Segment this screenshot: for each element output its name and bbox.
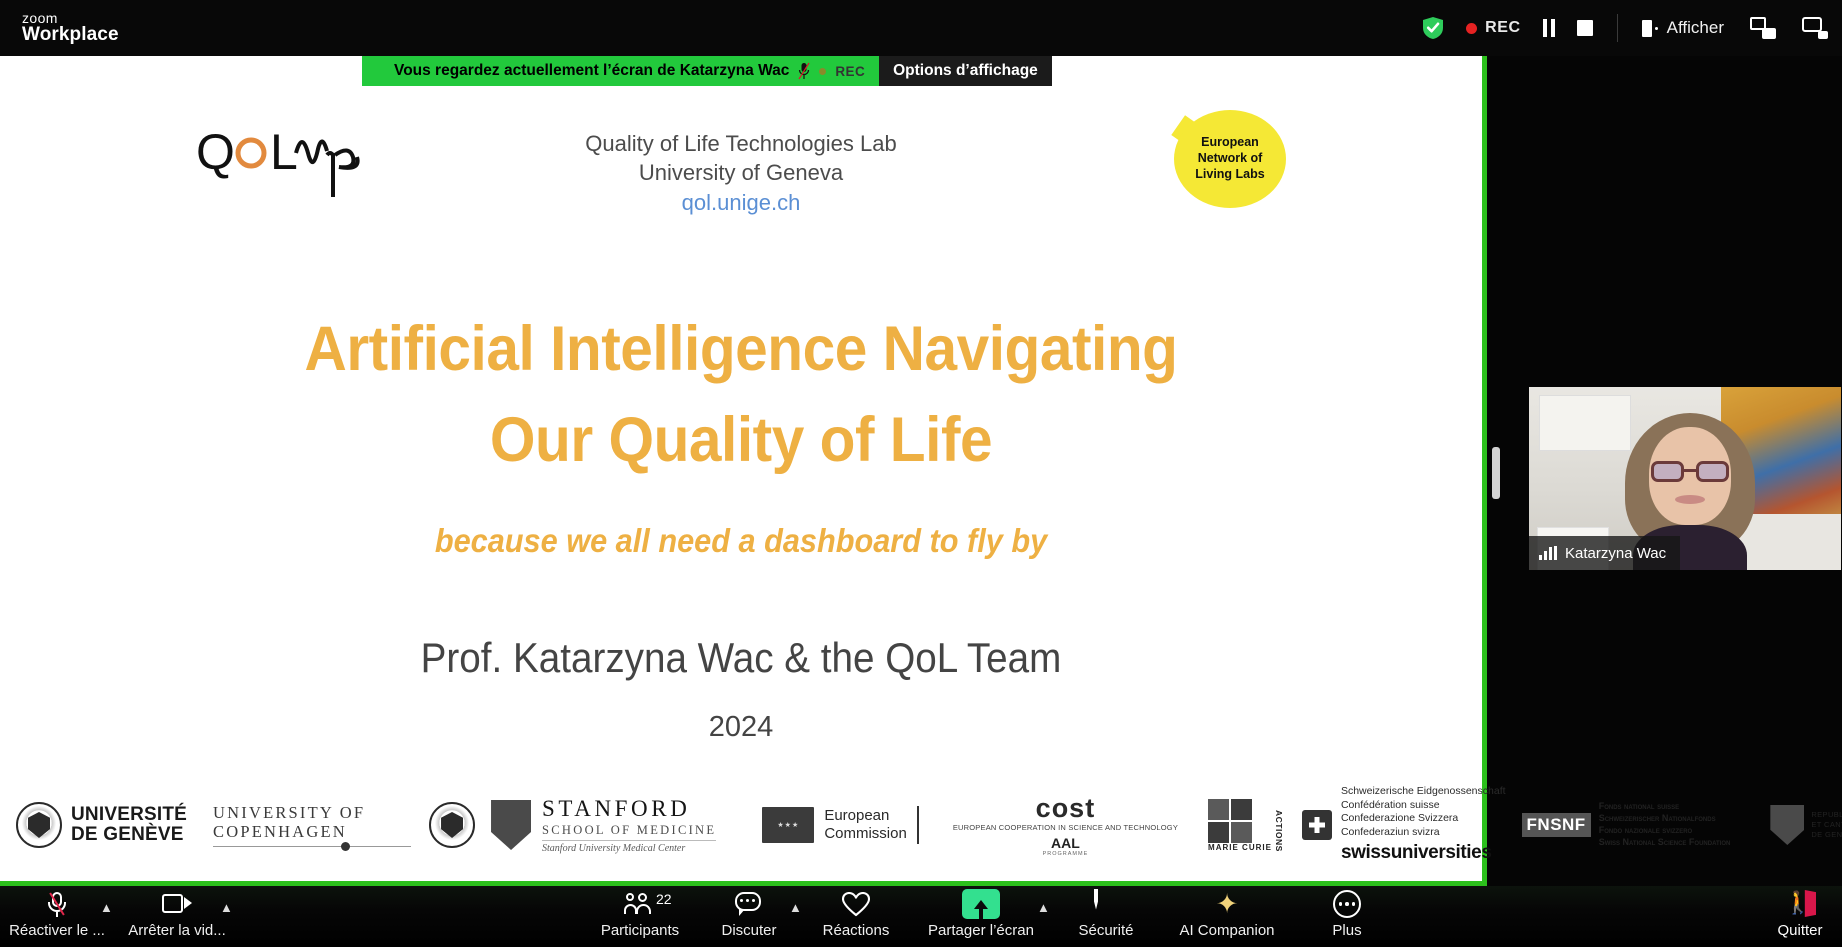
presentation-slide: Q L Quality of Life Technologies Lab Uni… (0, 56, 1482, 881)
security-button[interactable]: Sécurité (1046, 889, 1166, 939)
unige-line1: UNIVERSITÉ (71, 805, 187, 825)
ku-seal-icon (429, 802, 475, 848)
stop-video-button[interactable]: Arrêter la vid... (117, 889, 237, 939)
shared-screen-region: Vous regardez actuellement l’écran de Ka… (0, 56, 1487, 886)
ec-line1: European (824, 807, 907, 825)
record-dot-icon (1466, 23, 1477, 34)
participant-video-tile[interactable]: Katarzyna Wac (1529, 387, 1841, 570)
signal-bars-icon (1539, 546, 1557, 560)
conf-line4: Confederaziun svizra (1341, 826, 1506, 840)
layout-icon (1642, 20, 1658, 37)
share-up-icon (962, 889, 1000, 919)
exit-fullscreen-icon[interactable] (1802, 17, 1828, 39)
logo-marie-curie-actions: MARIE CURIE ACTIONS (1208, 799, 1284, 852)
enoll-logo: European Network of Living Labs (1174, 110, 1286, 208)
conf-line2: Confédération suisse (1341, 799, 1506, 813)
camera-icon (162, 889, 192, 919)
brand-line-workplace: Workplace (22, 25, 119, 45)
video-name-label: Katarzyna Wac (1529, 536, 1680, 570)
conf-line1: Schweizerische Eidgenossenschaft (1341, 785, 1506, 799)
leave-label: Quitter (1777, 922, 1822, 939)
sponsor-logo-strip: UNIVERSITÉ DE GENÈVE UNIVERSITY OF COPEN… (0, 791, 1482, 859)
slide-subtitle: because we all need a dashboard to fly b… (52, 522, 1430, 560)
reactions-button[interactable]: Réactions (796, 889, 916, 939)
video-options-chevron-down-icon[interactable]: ▲ (220, 900, 233, 915)
slide-title-line2: Our Quality of Life (52, 395, 1430, 486)
share-banner-green: Vous regardez actuellement l’écran de Ka… (362, 56, 879, 86)
ge-line2: ET CANTON (1811, 820, 1842, 830)
unige-crest-icon (16, 802, 62, 848)
share-rec-label: REC (835, 64, 865, 79)
ai-companion-button[interactable]: ✦ AI Companion (1167, 889, 1287, 939)
slide-title-line1: Artificial Intelligence Navigating (52, 304, 1430, 395)
logo-snsf: FNSNF Fonds national suisse Schweizerisc… (1522, 801, 1731, 849)
cost-line1: cost (953, 793, 1178, 824)
recording-indicator[interactable]: REC (1466, 19, 1521, 37)
logo-confederation-suisse: Schweizerische Eidgenossenschaft Confédé… (1302, 785, 1506, 866)
ai-companion-label: AI Companion (1179, 922, 1274, 939)
slide-author: Prof. Katarzyna Wac & the QoL Team (59, 634, 1422, 682)
leave-button[interactable]: 🚶 Quitter (1740, 889, 1842, 939)
copenhagen-line2: COPENHAGEN (213, 822, 411, 841)
stanford-line2: SCHOOL OF MEDICINE (542, 823, 716, 838)
logo-university-of-copenhagen: UNIVERSITY OF COPENHAGEN (213, 803, 411, 848)
video-whiteboard (1539, 395, 1631, 451)
share-banner-text: Vous regardez actuellement l’écran de Ka… (394, 62, 789, 80)
slide-title: Artificial Intelligence Navigating Our Q… (52, 304, 1430, 485)
zoom-brand-logo: zoom Workplace (22, 11, 119, 46)
cost-line4: PROGRAMME (953, 851, 1178, 857)
cost-line2: EUROPEAN COOPERATION IN SCIENCE AND TECH… (953, 824, 1178, 833)
people-icon (624, 889, 656, 919)
minimize-window-icon[interactable] (1750, 17, 1776, 39)
cost-line3: AAL (953, 835, 1178, 851)
more-label: Plus (1332, 922, 1361, 939)
unmute-label: Réactiver le ... (9, 922, 105, 939)
rec-label: REC (1485, 19, 1521, 37)
snsf-line4: Swiss National Science Foundation (1599, 837, 1731, 849)
marie-curie-grid-icon (1208, 799, 1252, 843)
share-screen-label: Partager l’écran (928, 922, 1034, 939)
view-button[interactable]: Afficher (1642, 18, 1724, 38)
reactions-label: Réactions (823, 922, 890, 939)
chat-label: Discuter (721, 922, 776, 939)
geneva-shield-icon (1770, 805, 1804, 845)
display-options-button[interactable]: Options d’affichage (879, 56, 1052, 86)
audio-options-chevron-down-icon[interactable]: ▲ (100, 900, 113, 915)
snsf-line3: Fondo nazionale svizzero (1599, 825, 1731, 837)
participants-count-badge: 22 (656, 891, 672, 907)
logo-universite-de-geneve: UNIVERSITÉ DE GENÈVE (16, 802, 187, 848)
meeting-controls-toolbar: Réactiver le ... ▲ Arrêter la vid... ▲ P… (0, 886, 1842, 947)
swissuniversities-label: swissuniversities (1341, 840, 1506, 865)
exit-door-icon: 🚶 (1784, 889, 1816, 919)
screen-share-banner: Vous regardez actuellement l’écran de Ka… (362, 56, 1052, 86)
marie-curie-actions-label: ACTIONS (1274, 810, 1284, 852)
snsf-mark: FNSNF (1522, 813, 1591, 837)
stanford-line3: Stanford University Medical Center (542, 840, 716, 855)
enoll-line2: Network of (1198, 151, 1263, 167)
ge-line1: REPUBLIQUE (1811, 810, 1842, 820)
ec-line2: Commission (824, 825, 907, 843)
panel-resize-handle[interactable] (1492, 447, 1500, 499)
ge-line3: DE GENEVE (1811, 830, 1842, 840)
conf-line3: Confederazione Svizzera (1341, 812, 1506, 826)
unige-line2: DE GENÈVE (71, 825, 187, 845)
enoll-line3: Living Labs (1195, 167, 1264, 183)
pause-recording-button[interactable] (1543, 19, 1555, 37)
participants-button[interactable]: Participants (580, 889, 700, 939)
title-bar-controls: REC Afficher (1416, 0, 1828, 56)
stanford-shield-icon (491, 800, 531, 850)
enoll-line1: European (1201, 135, 1259, 151)
share-screen-button[interactable]: Partager l’écran (921, 889, 1041, 939)
zoom-meeting-window: zoom Workplace REC Afficher (0, 0, 1842, 947)
snsf-line2: Schweizerischer Nationalfonds (1599, 813, 1731, 825)
swiss-cross-icon (1302, 810, 1332, 840)
stop-recording-button[interactable] (1577, 20, 1593, 36)
ec-divider (917, 806, 919, 844)
eu-flag-icon (762, 807, 814, 843)
logo-european-commission: European Commission (716, 806, 919, 844)
security-label: Sécurité (1078, 922, 1133, 939)
toolbar-divider (1617, 14, 1618, 42)
participants-label: Participants (601, 922, 679, 939)
participant-name: Katarzyna Wac (1565, 545, 1666, 562)
slide-year: 2024 (0, 711, 1482, 744)
snsf-line1: Fonds national suisse (1599, 801, 1731, 813)
share-rec-dot-icon (819, 68, 826, 75)
stop-video-label: Arrêter la vid... (128, 922, 226, 939)
view-label: Afficher (1667, 18, 1724, 38)
more-dots-icon (1333, 889, 1361, 919)
shield-check-icon[interactable] (1416, 11, 1450, 45)
brand-line-zoom: zoom (22, 11, 119, 26)
copenhagen-rule (213, 846, 411, 847)
marie-curie-caption: MARIE CURIE (1208, 843, 1272, 852)
stanford-line1: STANFORD (542, 795, 716, 823)
logo-republique-canton-geneve: REPUBLIQUE ET CANTON DE GENEVE (1730, 805, 1842, 845)
chat-icon (735, 889, 763, 919)
logo-stanford-school-of-medicine: STANFORD SCHOOL OF MEDICINE Stanford Uni… (411, 795, 716, 855)
sparkle-icon: ✦ (1216, 889, 1239, 919)
shield-icon (1094, 889, 1118, 919)
mic-muted-icon (47, 889, 67, 919)
logo-cost-aal: cost EUROPEAN COOPERATION IN SCIENCE AND… (953, 793, 1178, 857)
mic-muted-icon (798, 62, 810, 80)
copenhagen-line1: UNIVERSITY OF (213, 803, 411, 822)
more-button[interactable]: Plus (1287, 889, 1407, 939)
heart-icon (842, 889, 870, 919)
title-bar: zoom Workplace REC Afficher (0, 0, 1842, 56)
